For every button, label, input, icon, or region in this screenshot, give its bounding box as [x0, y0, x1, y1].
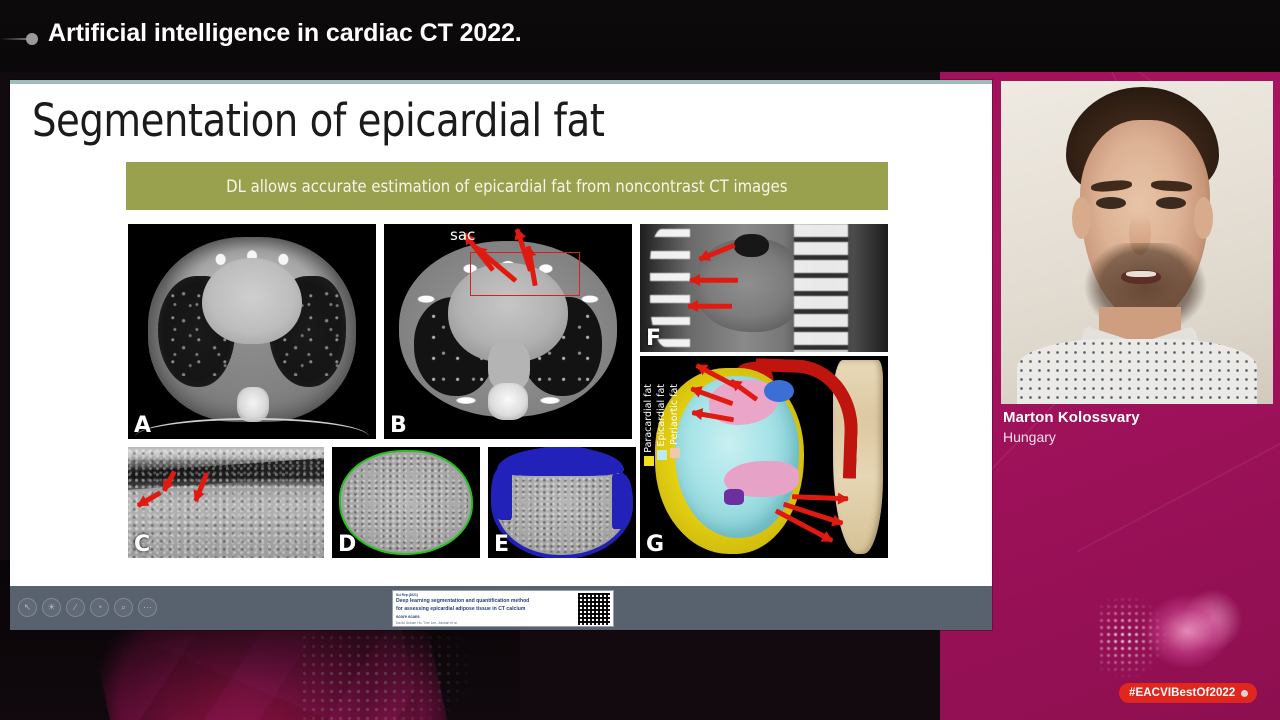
figure-panel-b: sac B — [384, 224, 632, 439]
panel-letter-g: G — [646, 532, 664, 557]
citation-journal: Sci Rep (2021) — [396, 593, 576, 597]
legend-swatch — [657, 450, 667, 460]
figure-panel-c: C — [128, 447, 324, 558]
panel-letter-c: C — [134, 532, 150, 557]
slide-highlight-banner: DL allows accurate estimation of epicard… — [126, 162, 888, 210]
legend-item-periaortic: Periaortic fat — [669, 384, 680, 466]
legend-label: Periaortic fat — [669, 384, 680, 445]
presentation-viewer: Artificial intelligence in cardiac CT 20… — [0, 0, 1280, 720]
figure-panel-a: A — [128, 224, 376, 439]
pen-tool-icon[interactable]: ∕ — [66, 598, 85, 617]
figure-panel-g: Paracardial fat Epicardial fat Periaorti… — [640, 356, 888, 558]
panel-letter-b: B — [390, 413, 407, 438]
citation-authors: David, Aviram Hu, Tzer Lee, Juhwan et al… — [396, 621, 576, 625]
panel-letter-a: A — [134, 413, 151, 438]
citation-subtitle: score scans — [396, 614, 576, 619]
presentation-control-bar: ↖ ☀ ∕ ◔ ⌕ ⋯ Sci Rep (2021) Deep learning… — [10, 586, 992, 630]
presentation-toolbar[interactable]: ↖ ☀ ∕ ◔ ⌕ ⋯ — [18, 598, 157, 617]
citation-title-line1: Deep learning segmentation and quantific… — [396, 598, 576, 605]
highlight-tool-icon[interactable]: ☀ — [42, 598, 61, 617]
slide-canvas: Segmentation of epicardial fat DL allows… — [10, 84, 992, 586]
event-hashtag-badge: #EACVIBestOf2022 — [1119, 683, 1257, 703]
legend-label: Paracardial fat — [643, 384, 654, 453]
red-arrow-icon — [690, 274, 738, 286]
fat-type-legend: Paracardial fat Epicardial fat Periaorti… — [643, 384, 680, 466]
slide-highlight-text: DL allows accurate estimation of epicard… — [226, 177, 787, 196]
halftone-dots-pattern — [300, 615, 500, 720]
legend-swatch — [644, 456, 654, 466]
header-bar: Artificial intelligence in cardiac CT 20… — [0, 0, 1280, 72]
speaker-shirt — [1017, 339, 1256, 404]
figure-panel-d: D — [332, 447, 480, 558]
legend-label: Epicardial fat — [656, 384, 667, 447]
more-options-icon[interactable]: ⋯ — [138, 598, 157, 617]
eraser-tool-icon[interactable]: ◔ — [90, 598, 109, 617]
zoom-tool-icon[interactable]: ⌕ — [114, 598, 133, 617]
pointer-tool-icon[interactable]: ↖ — [18, 598, 37, 617]
legend-item-epicardial: Epicardial fat — [656, 384, 667, 466]
speaker-eye-left — [1096, 197, 1126, 209]
speaker-country: Hungary — [1003, 429, 1056, 445]
page-title: Artificial intelligence in cardiac CT 20… — [48, 19, 522, 48]
figure-panel-e: E — [488, 447, 636, 558]
speaker-eye-right — [1156, 197, 1186, 209]
citation-card[interactable]: Sci Rep (2021) Deep learning segmentatio… — [392, 590, 614, 627]
speaker-name: Marton Kolossvary — [1003, 409, 1140, 426]
legend-item-paracardial: Paracardial fat — [643, 384, 654, 466]
qr-code-icon[interactable] — [578, 593, 610, 625]
panel-letter-e: E — [494, 532, 509, 557]
heart-graphic-right — [1120, 575, 1260, 700]
legend-swatch — [670, 448, 680, 458]
speaker-video-feed[interactable] — [1001, 81, 1273, 404]
timeline-dot-icon[interactable] — [26, 33, 38, 45]
figure-panel-f: F — [640, 224, 888, 352]
citation-title-line2: for assessing epicardial adipose tissue … — [396, 606, 576, 613]
sac-annotation-label: sac — [450, 226, 475, 244]
panel-letter-f: F — [646, 326, 661, 351]
speaker-ear-left — [1072, 197, 1091, 239]
event-hashtag-text: #EACVIBestOf2022 — [1129, 687, 1235, 699]
badge-dot-icon — [1241, 690, 1248, 697]
panel-letter-d: D — [338, 532, 356, 557]
red-arrow-icon — [688, 300, 732, 312]
slide-title: Segmentation of epicardial fat — [32, 94, 604, 147]
slide-container[interactable]: Segmentation of epicardial fat DL allows… — [10, 80, 992, 630]
